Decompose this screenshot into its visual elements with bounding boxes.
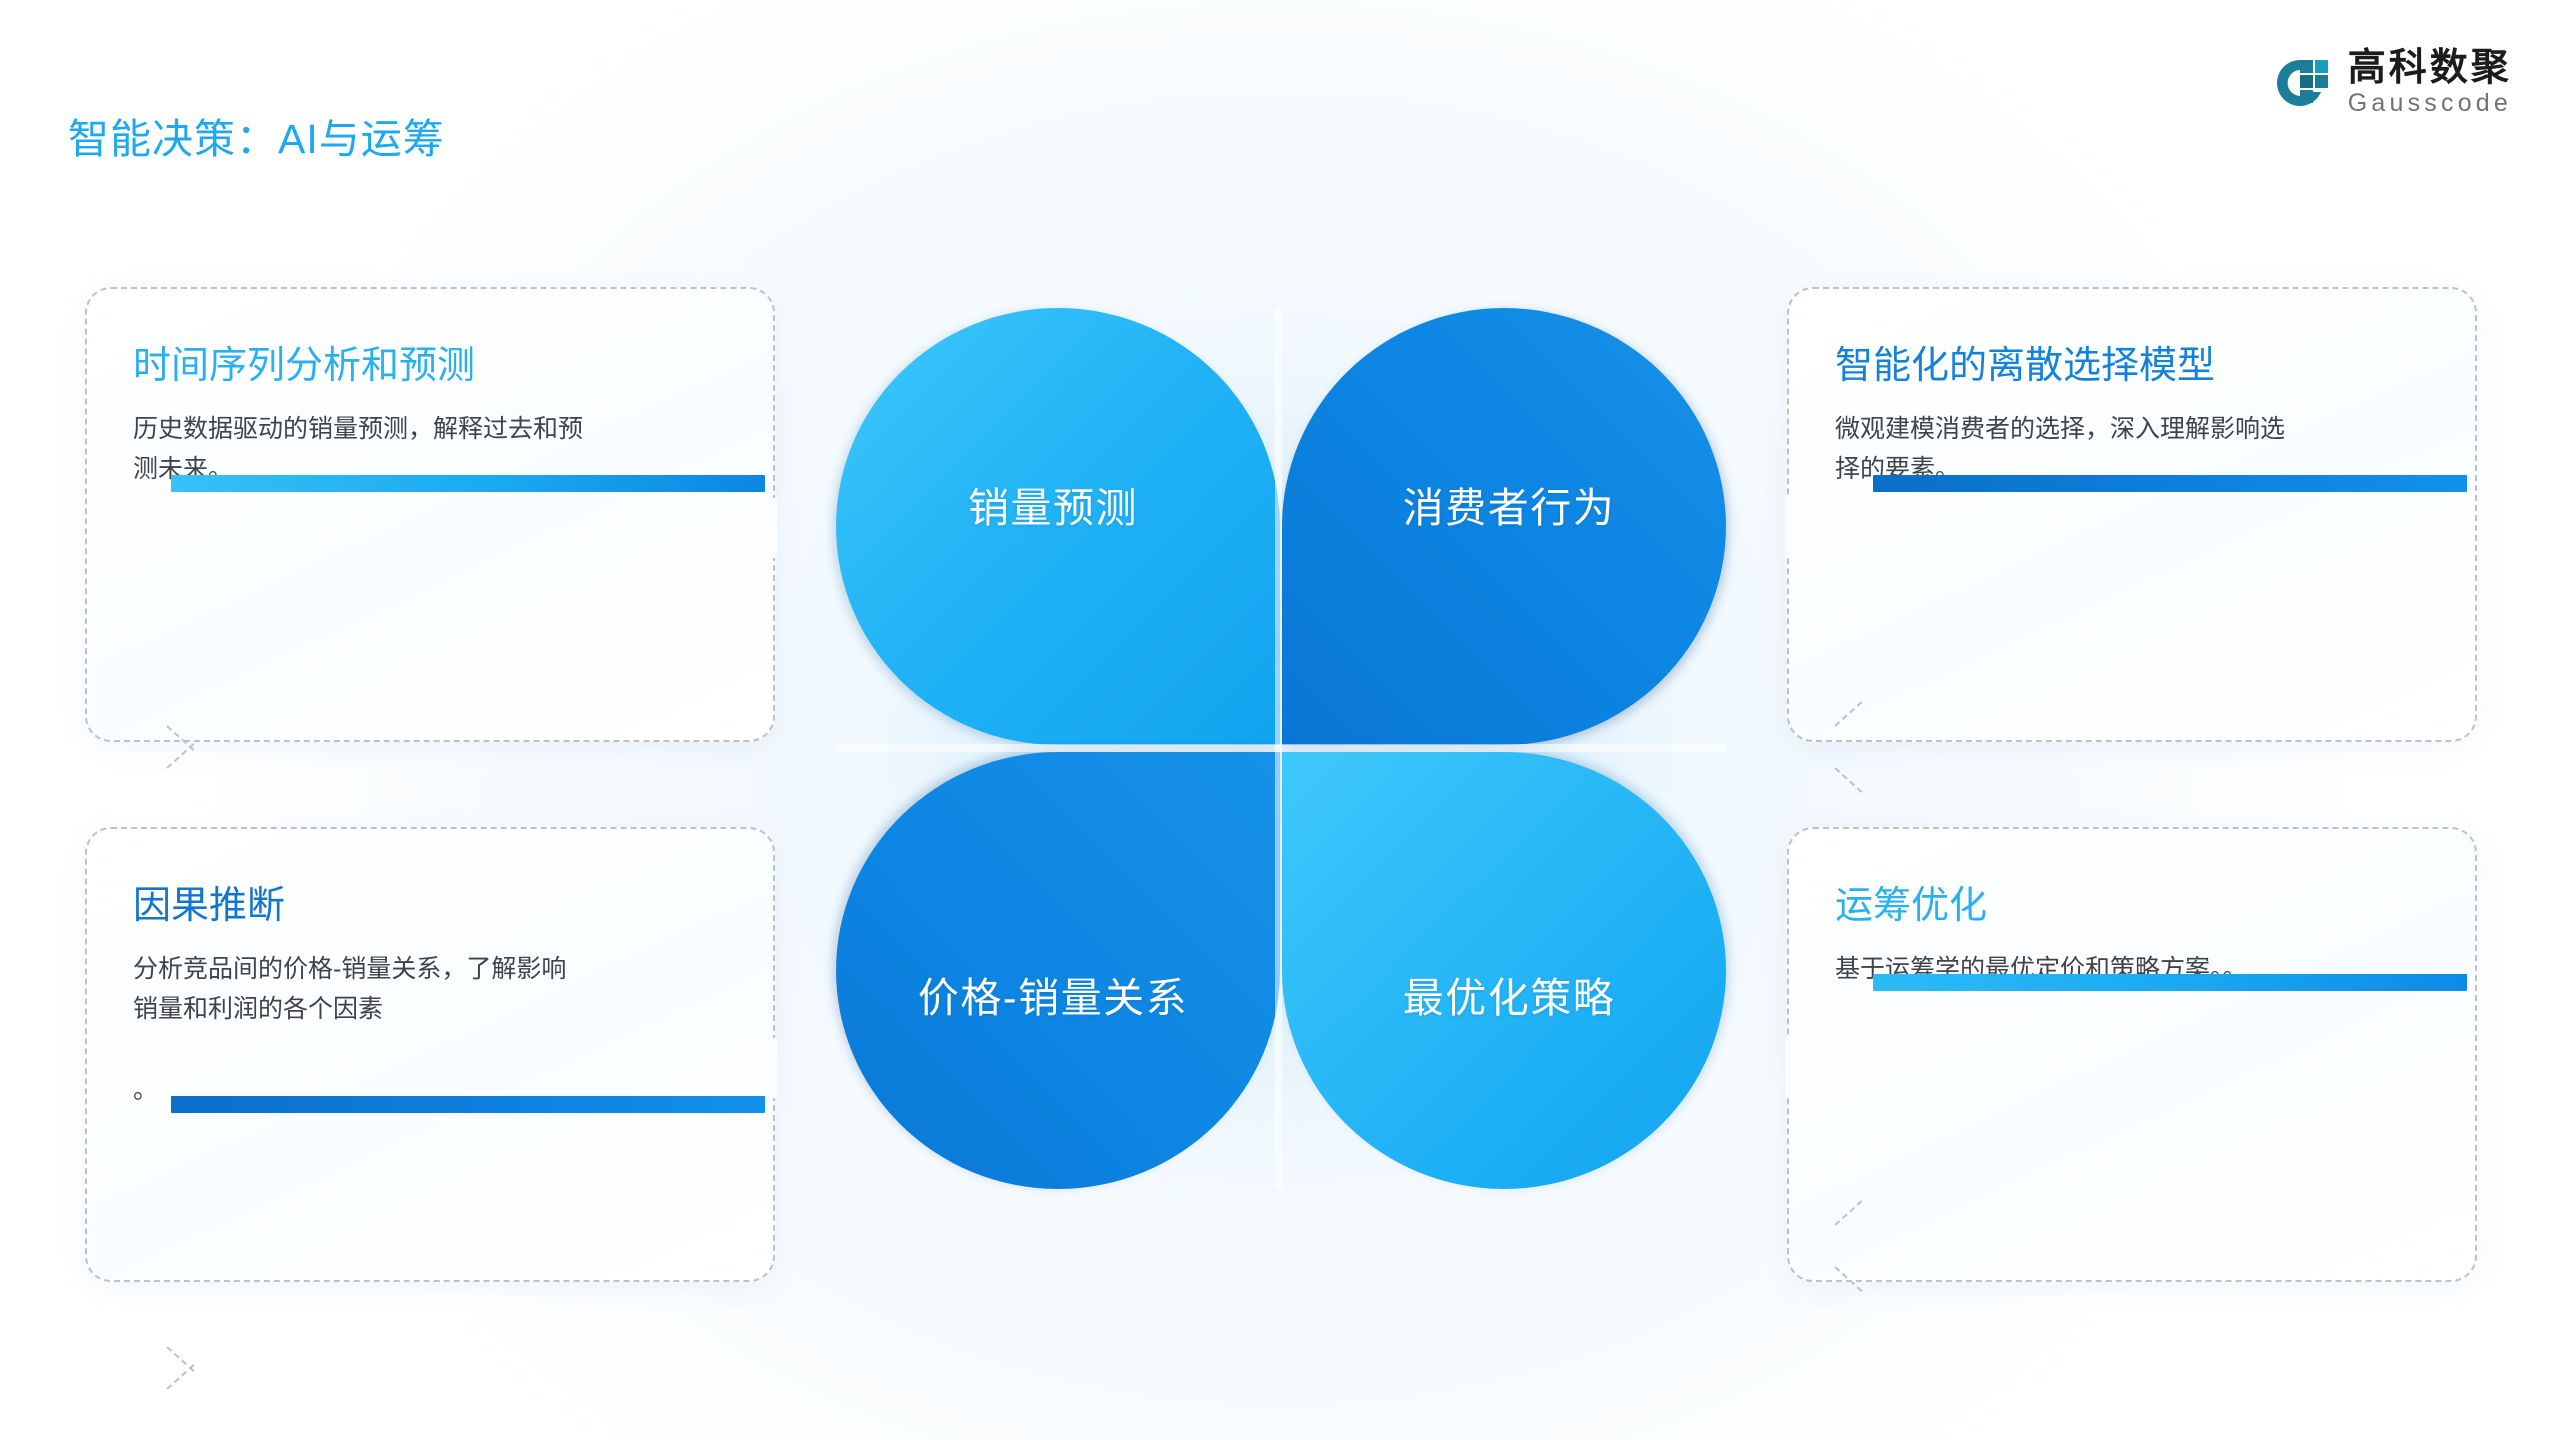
logo-text-block: 高科数聚 Gausscode	[2348, 48, 2512, 118]
card-accent-bar	[171, 475, 765, 492]
card-causal-inference[interactable]: 因果推断 分析竞品间的价格-销量关系，了解影响 销量和利润的各个因素 。	[85, 827, 775, 1282]
connector-chevron-icon	[1801, 1216, 1835, 1274]
gausscode-logo-icon	[2270, 52, 2332, 114]
card-operations-optimization[interactable]: 运筹优化 基于运筹学的最优定价和策略方案。。	[1787, 827, 2477, 1282]
connector-mask	[767, 1038, 777, 1098]
connector-mask	[767, 498, 777, 558]
petal-label: 消费者行为	[1403, 474, 1616, 534]
card-accent-bar	[171, 1096, 765, 1113]
card-title: 运筹优化	[1835, 883, 2429, 931]
card-title: 智能化的离散选择模型	[1835, 343, 2429, 391]
card-title: 时间序列分析和预测	[133, 343, 727, 391]
card-title: 因果推断	[133, 883, 727, 931]
page-title: 智能决策：AI与运筹	[68, 105, 445, 165]
petal-consumer-behavior[interactable]: 消费者行为	[1282, 308, 1726, 745]
connector-chevron-icon	[167, 717, 201, 775]
card-discrete-choice-model[interactable]: 智能化的离散选择模型 微观建模消费者的选择，深入理解影响选 择的要素。	[1787, 287, 2477, 742]
connector-chevron-icon	[1801, 717, 1835, 775]
petal-price-volume[interactable]: 价格-销量关系	[836, 752, 1280, 1189]
card-accent-bar	[1873, 475, 2467, 492]
brand-logo: 高科数聚 Gausscode	[2270, 48, 2512, 118]
petal-label: 最优化策略	[1403, 964, 1616, 1024]
card-body: 分析竞品间的价格-销量关系，了解影响 销量和利润的各个因素 。	[133, 949, 713, 1111]
logo-chinese-name: 高科数聚	[2348, 48, 2512, 88]
petal-sales-forecast[interactable]: 销量预测	[836, 308, 1280, 745]
connector-mask	[1785, 498, 1795, 558]
logo-english-name: Gausscode	[2348, 90, 2512, 118]
card-time-series-forecast[interactable]: 时间序列分析和预测 历史数据驱动的销量预测，解释过去和预 测未来。	[85, 287, 775, 742]
petal-label: 价格-销量关系	[918, 964, 1188, 1024]
card-accent-bar	[1873, 974, 2467, 991]
connector-chevron-icon	[167, 1338, 201, 1396]
quadrant-flower-diagram: 销量预测 消费者行为 价格-销量关系 最优化策略	[820, 300, 1740, 1200]
petal-label: 销量预测	[968, 474, 1138, 534]
connector-mask	[1785, 1038, 1795, 1098]
petal-optimal-strategy[interactable]: 最优化策略	[1282, 752, 1726, 1189]
